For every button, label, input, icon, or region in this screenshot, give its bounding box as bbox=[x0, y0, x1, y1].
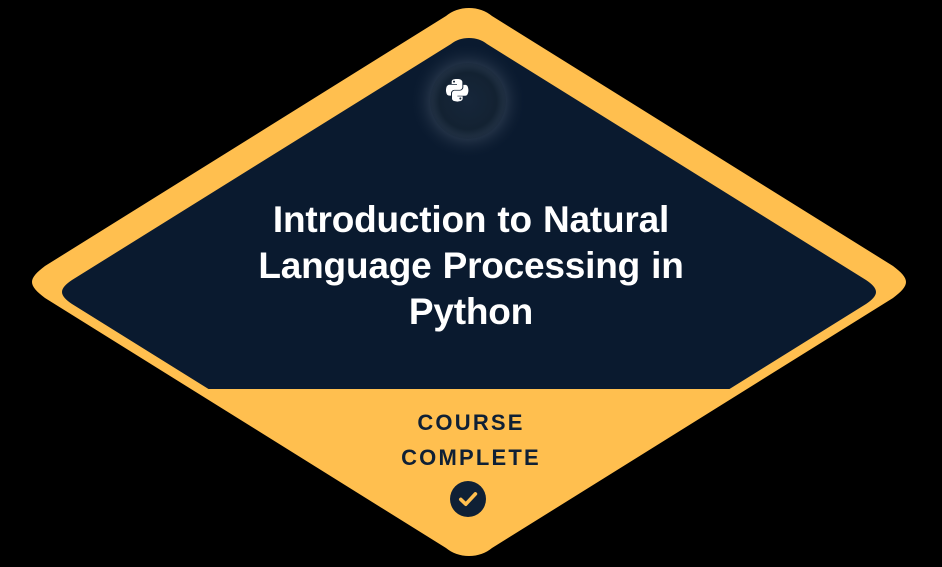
check-circle-icon bbox=[450, 481, 486, 517]
logo-glow-inner bbox=[430, 63, 506, 139]
course-completion-badge: Introduction to Natural Language Process… bbox=[0, 0, 942, 567]
